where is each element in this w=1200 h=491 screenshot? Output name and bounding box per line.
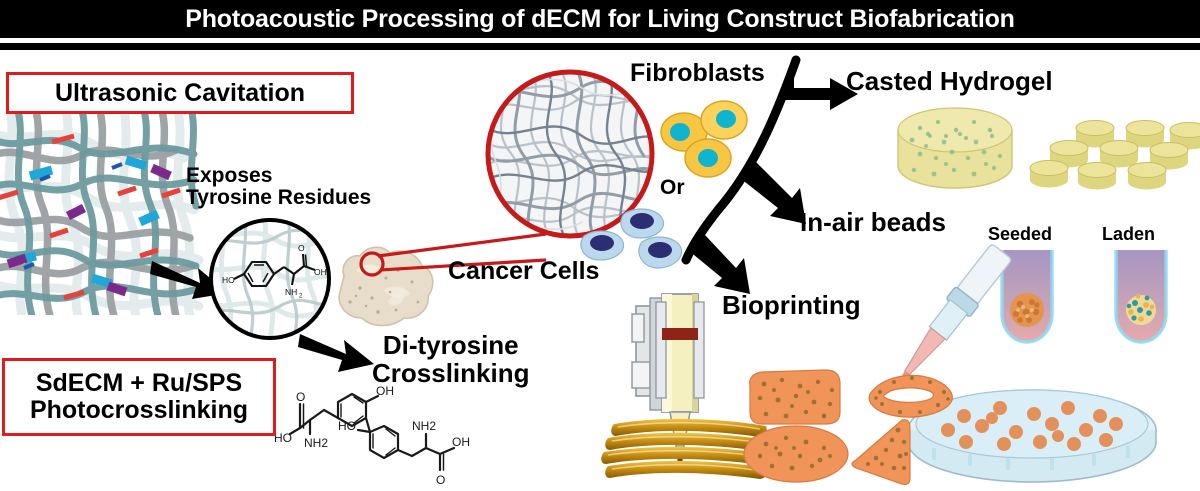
label-cancer-cells: Cancer Cells: [448, 258, 599, 285]
atom-label-nh2-right: NH2: [412, 419, 436, 433]
hydrogel-disc-svg: [890, 104, 1020, 196]
graphical-abstract: Photoacoustic Processing of dECM for Liv…: [0, 0, 1200, 491]
tyrosine-svg: HO NH 2 O OH: [206, 216, 334, 342]
title-banner: Photoacoustic Processing of dECM for Liv…: [0, 0, 1200, 38]
tube-laden-svg: [1110, 248, 1172, 346]
disc-array-svg: [1032, 118, 1196, 194]
atom-label-oh-right: OH: [452, 435, 470, 449]
label-seeded: Seeded: [988, 225, 1052, 244]
casted-hydrogel-disc: [890, 104, 1020, 196]
atom-label-o: O: [298, 243, 305, 253]
di-tyrosine-svg: O HO NH2 OH HO NH2 OH O: [276, 368, 576, 490]
ultrasonic-cavitation-text: Ultrasonic Cavitation: [55, 80, 305, 107]
atom-label-ho: HO: [222, 275, 235, 285]
atom-label-nh2-left: NH2: [304, 436, 328, 450]
atom-label-ho-lower: HO: [338, 419, 356, 433]
atom-label-ho-left: HO: [274, 431, 292, 445]
atom-label-oh-upper: OH: [376, 384, 394, 398]
label-casted-hydrogel: Casted Hydrogel: [846, 68, 1053, 96]
page-title: Photoacoustic Processing of dECM for Liv…: [185, 5, 1015, 34]
label-exposes-tyrosine-residues: Exposes Tyrosine Residues: [186, 165, 371, 210]
hydrogel-disc-array: [1032, 118, 1196, 194]
sdecm-photocrosslinking-text: SdECM + Ru/SPS Photocrosslinking: [30, 370, 248, 424]
label-laden: Laden: [1102, 225, 1155, 244]
label-or: Or: [660, 177, 685, 199]
constructs-svg: [740, 366, 960, 488]
atom-label-nh2: NH: [285, 287, 297, 297]
label-in-air-beads: In-air beads: [800, 209, 946, 237]
label-box-sdecm-photocrosslinking: SdECM + Ru/SPS Photocrosslinking: [2, 358, 276, 436]
title-rule: [0, 43, 1200, 50]
label-box-ultrasonic-cavitation: Ultrasonic Cavitation: [6, 72, 354, 114]
atom-label-o-left: O: [296, 390, 305, 404]
di-tyrosine-structure: O HO NH2 OH HO NH2 OH O: [276, 368, 576, 490]
tube-laden-spheroid: [1110, 248, 1172, 346]
label-bioprinting: Bioprinting: [722, 292, 861, 320]
atom-label-oh: OH: [314, 267, 327, 277]
printed-constructs: [740, 366, 960, 488]
tyrosine-molecule-circle: HO NH 2 O OH: [206, 216, 334, 342]
atom-label-o-right: O: [436, 473, 445, 487]
